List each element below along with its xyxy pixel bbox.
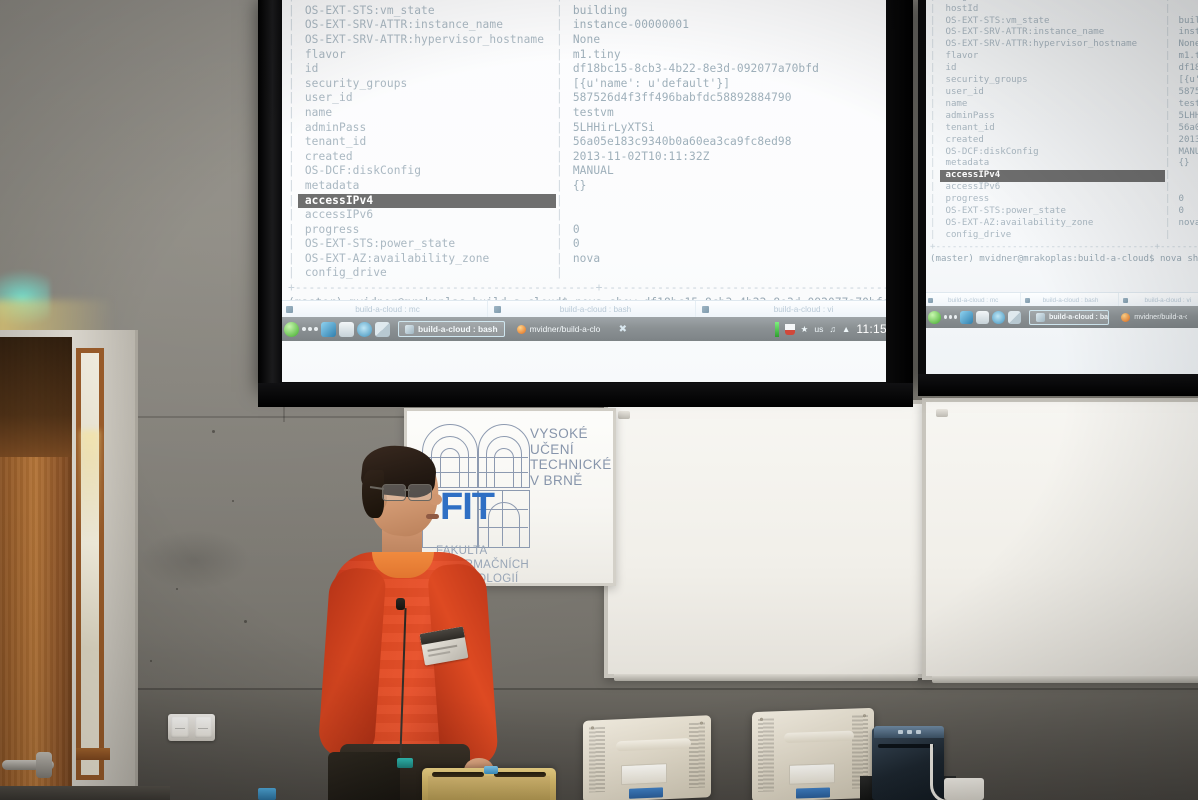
table-pipe: |	[930, 51, 940, 63]
table-pipe: |	[288, 48, 298, 63]
terminal-value: 56a05e183c9340b0a60ea3ca9fc8ed98	[566, 135, 792, 150]
table-pipe: |	[930, 123, 940, 135]
terminal-row: | flavor| m1.tiny	[930, 51, 1198, 63]
light-switch-rocker-right[interactable]	[195, 717, 213, 738]
table-pipe: |	[930, 182, 940, 194]
terminal-key: name	[940, 99, 1165, 111]
table-pipe: |	[288, 208, 298, 223]
table-pipe: |	[556, 208, 566, 223]
terminal-value: testvm	[1173, 99, 1198, 111]
vut-line-2: UČENÍ	[530, 442, 574, 457]
terminal-key: tenant_id	[298, 135, 556, 150]
terminal-value: 5LHHirLyXTSi	[1173, 111, 1198, 123]
terminal-row: | OS-EXT-STS:vm_state| building	[930, 16, 1198, 28]
terminal-row: | tenant_id| 56a05e183c9340b0a60ea3ca9fc…	[288, 135, 904, 150]
terminal-icon[interactable]	[405, 325, 414, 334]
terminal-prompt[interactable]: (master) mvidner@mrakoplas:build-a-cloud…	[930, 254, 1198, 266]
whiteboard-pen-tray	[932, 676, 1198, 683]
terminal-row: | name| testvm	[288, 106, 904, 121]
table-pipe: |	[556, 179, 566, 194]
lectern-face	[428, 776, 550, 800]
table-pipe: |	[288, 150, 298, 165]
terminal-key: OS-EXT-STS:power_state	[298, 237, 556, 252]
wall-speck	[232, 500, 234, 502]
table-pipe: |	[556, 48, 566, 63]
table-pipe: |	[930, 75, 940, 87]
table-pipe: |	[930, 230, 940, 242]
table-pipe: |	[556, 62, 566, 77]
firefox-icon[interactable]	[1121, 313, 1130, 322]
terminal-key: OS-DCF:diskConfig	[298, 164, 556, 179]
table-pipe: |	[288, 135, 298, 150]
settings-gear-icon[interactable]	[357, 322, 372, 337]
terminal-key: security_groups	[940, 75, 1165, 87]
table-pipe: |	[556, 223, 566, 238]
table-pipe: |	[930, 16, 940, 28]
terminal-value: nova	[1173, 218, 1198, 230]
whiteboard-left	[604, 400, 928, 678]
table-pipe: |	[1165, 111, 1173, 123]
terminal-row: | progress| 0	[288, 223, 904, 238]
terminal-value: building	[1173, 16, 1198, 28]
table-pipe: |	[1165, 206, 1173, 218]
terminal-rule: +---------------------------------------…	[930, 242, 1198, 254]
window-buttons-left[interactable]: build-a-cloud : bashmvidner/build-a-clo✖	[390, 321, 775, 337]
terminal-row: | config_drive|	[930, 230, 1198, 242]
vut-line-1: VYSOKÉ	[530, 426, 588, 441]
door-rail	[76, 748, 110, 760]
terminal-row: | OS-DCF:diskConfig| MANUAL	[288, 164, 904, 179]
terminal-value	[1173, 182, 1178, 194]
screen2-bezel-left	[918, 0, 926, 380]
keyboard-layout-indicator[interactable]: us	[814, 324, 823, 334]
table-pipe: |	[288, 237, 298, 252]
panel-launchers[interactable]	[280, 322, 390, 337]
workspace-switcher-icon[interactable]	[375, 322, 390, 337]
table-pipe: |	[1165, 123, 1173, 135]
terminal-key: accessIPv6	[940, 182, 1165, 194]
start-menu-icon[interactable]	[284, 322, 299, 337]
terminal-row: | OS-EXT-STS:vm_state| building	[288, 4, 904, 19]
terminal-value: MANUAL	[1173, 147, 1198, 159]
table-pipe: |	[1165, 158, 1173, 170]
terminal-row: | security_groups| [{u'name': u'default'…	[930, 75, 1198, 87]
whiteboard-magnet	[936, 409, 948, 417]
whiteboard-pen-tray	[614, 674, 917, 681]
laptop-drive-slot	[878, 744, 934, 748]
whiteboard-right	[922, 398, 1198, 680]
table-pipe: |	[288, 121, 298, 136]
table-pipe: |	[288, 266, 298, 281]
table-pipe: |	[1165, 147, 1173, 159]
terminal-tab-1[interactable]: build-a-cloud : bash	[488, 301, 696, 318]
terminal-row: | metadata| {}	[930, 158, 1198, 170]
network-icon[interactable]	[960, 311, 973, 324]
terminal-key: flavor	[298, 48, 556, 63]
terminal-value	[1173, 230, 1178, 242]
table-pipe: |	[556, 77, 566, 92]
table-pipe: |	[556, 91, 566, 106]
desktop-panel-left[interactable]: build-a-cloud : bashmvidner/build-a-clo✖…	[280, 317, 904, 341]
monitor-spec-label	[621, 763, 667, 785]
terminal-key: tenant_id	[940, 123, 1165, 135]
table-pipe: |	[556, 252, 566, 267]
terminal-tab-label: build-a-cloud : vi	[714, 305, 903, 314]
terminal-key: id	[940, 63, 1165, 75]
wall-speck	[150, 660, 152, 662]
terminal-row: | adminPass| 5LHHirLyXTSi	[288, 121, 904, 136]
badge-text-line	[428, 651, 450, 656]
terminal-key: progress	[298, 223, 556, 238]
terminal-row: | accessIPv4|	[288, 194, 904, 209]
terminal-icon[interactable]	[1036, 313, 1045, 322]
terminal-value: m1.tiny	[566, 48, 621, 63]
wall-smudge	[140, 530, 250, 590]
blue-object	[258, 788, 276, 800]
terminal-row: | flavor| m1.tiny	[288, 48, 904, 63]
terminal-key: progress	[940, 194, 1165, 206]
terminal-value: 0	[1173, 194, 1184, 206]
table-pipe: |	[556, 18, 566, 33]
terminal-key: OS-EXT-SRV-ATTR:instance_name	[940, 27, 1165, 39]
terminal-value: MANUAL	[566, 164, 614, 179]
terminal-row: | user_id| 587526d4f3ff496babfdc58892884…	[930, 87, 1198, 99]
table-pipe: |	[556, 121, 566, 136]
terminal-key: config_drive	[298, 266, 556, 281]
laptop-indicator-lights	[898, 730, 921, 734]
terminal-value: [{u'name': u'default'}]	[1173, 75, 1198, 87]
table-pipe: |	[288, 4, 298, 19]
table-pipe: |	[1165, 63, 1173, 75]
table-pipe: |	[556, 135, 566, 150]
table-pipe: |	[288, 18, 298, 33]
table-pipe: |	[930, 158, 940, 170]
vut-line-4: V BRNĚ	[530, 473, 583, 488]
terminal-tab-label: build-a-cloud : mc	[936, 297, 1020, 304]
monitor-sticker	[629, 787, 663, 798]
desk-edge-left	[0, 786, 170, 800]
taskbar-window-button-0[interactable]: build-a-cloud : bash	[398, 321, 505, 337]
terminal-key: adminPass	[940, 111, 1165, 123]
terminal-value: df18bc15-8cb3-4b22-8e3d-092077a70bfd	[1173, 63, 1198, 75]
terminal-tab-label: build-a-cloud : bash	[1033, 297, 1117, 304]
terminal-value: 2013-11-02T10:11:32Z	[1173, 135, 1198, 147]
projection-screen-left: | key_name| testkey| image| cirros| host…	[258, 0, 913, 386]
door-handle-base	[36, 752, 52, 778]
table-pipe: |	[930, 111, 940, 123]
taskbar-window-label: build-a-cloud : bash	[418, 324, 498, 334]
terminal-key: accessIPv6	[298, 208, 556, 223]
terminal-value: 2013-11-02T10:11:32Z	[566, 150, 710, 165]
terminal-tab-0[interactable]: build-a-cloud : mc	[280, 301, 488, 318]
monitor-sticker	[796, 787, 830, 798]
terminal-value	[1173, 4, 1178, 16]
terminal-row: | OS-EXT-SRV-ATTR:instance_name| instanc…	[288, 18, 904, 33]
terminal-key: OS-EXT-SRV-ATTR:hypervisor_hostname	[298, 33, 556, 48]
table-pipe: |	[1165, 99, 1173, 111]
network-icon[interactable]	[321, 322, 336, 337]
presenter	[318, 452, 498, 800]
terminal-row: | OS-EXT-STS:power_state| 0	[930, 206, 1198, 218]
workspace-switcher-icon[interactable]	[1008, 311, 1021, 324]
terminal-row: | tenant_id| 56a05e183c9340b0a60ea3ca9fc…	[930, 123, 1198, 135]
terminal-row: | OS-EXT-SRV-ATTR:instance_name| instanc…	[930, 27, 1198, 39]
terminal-key: OS-EXT-STS:vm_state	[940, 16, 1165, 28]
table-pipe: |	[1165, 27, 1173, 39]
table-pipe: |	[1165, 182, 1173, 194]
document-icon[interactable]	[339, 322, 354, 337]
screen-left-surface: | key_name| testkey| image| cirros| host…	[280, 0, 904, 382]
table-pipe: |	[556, 150, 566, 165]
terminal-output-left[interactable]: | key_name| testkey| image| cirros| host…	[280, 0, 904, 310]
monitor-rear-right	[752, 708, 874, 800]
terminal-key: OS-EXT-AZ:availability_zone	[298, 252, 556, 267]
terminal-row: | progress| 0	[930, 194, 1198, 206]
terminal-key: OS-EXT-SRV-ATTR:instance_name	[298, 18, 556, 33]
table-pipe: |	[930, 4, 940, 16]
terminal-value: instance-00000001	[566, 18, 689, 33]
monitor-vent	[589, 727, 605, 793]
table-pipe: |	[288, 77, 298, 92]
table-pipe: |	[556, 237, 566, 252]
photo-scene: VYSOKÉUČENÍTECHNICKÉV BRNĚ FIT FAKULTAIN…	[0, 0, 1198, 800]
close-icon[interactable]: ✖	[618, 325, 627, 334]
door-glass-reflection	[80, 430, 100, 540]
terminal-value: 587526d4f3ff496babfdc58892884790	[566, 91, 792, 106]
dark-equipment-box	[328, 752, 400, 800]
terminal-icon	[702, 306, 709, 313]
terminal-value: df18bc15-8cb3-4b22-8e3d-092077a70bfd	[566, 62, 819, 77]
vut-rule	[502, 490, 504, 546]
light-switch[interactable]	[168, 714, 215, 741]
terminal-tab-0[interactable]: build-a-cloud : mc	[924, 293, 1021, 307]
presenter-hair-side	[362, 470, 384, 518]
terminal-key: accessIPv4	[940, 170, 1165, 182]
terminal-key: OS-DCF:diskConfig	[940, 147, 1165, 159]
terminal-key: config_drive	[940, 230, 1165, 242]
network-icon[interactable]: ★	[801, 324, 809, 335]
terminal-tab-label: build-a-cloud : vi	[1131, 297, 1198, 304]
terminal-key: created	[298, 150, 556, 165]
terminal-key: name	[298, 106, 556, 121]
table-pipe: |	[1165, 135, 1173, 147]
terminal-value: testvm	[566, 106, 614, 121]
terminal-row: | security_groups| [{u'name': u'default'…	[288, 77, 904, 92]
teal-object	[397, 758, 413, 768]
terminal-icon	[286, 306, 293, 313]
terminal-value: {}	[566, 179, 587, 194]
white-power-brick	[944, 778, 984, 800]
table-pipe: |	[556, 266, 566, 281]
monitor-handle	[616, 738, 690, 751]
terminal-value	[1173, 170, 1178, 182]
terminal-value: [{u'name': u'default'}]	[566, 77, 730, 92]
app-menu-dots-icon[interactable]	[944, 311, 957, 324]
terminal-key: accessIPv4	[298, 194, 556, 209]
terminal-key: metadata	[298, 179, 556, 194]
wall-speck	[212, 430, 215, 433]
chevron-up-icon[interactable]: ▲	[842, 324, 851, 334]
table-pipe: |	[1165, 87, 1173, 99]
table-pipe: |	[930, 39, 940, 51]
table-pipe: |	[1165, 39, 1173, 51]
terminal-output-right[interactable]: | OS-EXT-SRV-ATTR:host| scheduling| key_…	[924, 0, 1198, 266]
screen-bezel-bottom	[258, 383, 913, 407]
terminal-value: None	[1173, 39, 1198, 51]
terminal-value: 0	[566, 237, 580, 252]
terminal-value: 5LHHirLyXTSi	[566, 121, 655, 136]
terminal-key: security_groups	[298, 77, 556, 92]
taskbar-window-button-1[interactable]: mvidner/build-a-clo	[1115, 311, 1187, 324]
panel-launchers[interactable]	[924, 311, 1021, 324]
terminal-tab-1[interactable]: build-a-cloud : bash	[1021, 293, 1118, 307]
terminal-row: | name| testvm	[930, 99, 1198, 111]
table-pipe: |	[1165, 194, 1173, 206]
terminal-row: | id| df18bc15-8cb3-4b22-8e3d-092077a70b…	[930, 63, 1198, 75]
terminal-value: 0	[1173, 206, 1184, 218]
table-pipe: |	[930, 194, 940, 206]
table-pipe: |	[1165, 75, 1173, 87]
presenter-mouth	[426, 514, 439, 519]
clock[interactable]: 11:15	[856, 322, 887, 336]
terminal-icon	[928, 298, 933, 303]
taskbar-window-button-1[interactable]: mvidner/build-a-clo	[511, 322, 607, 336]
lectern-slot	[494, 772, 546, 777]
monitor-vent	[689, 722, 705, 788]
window-buttons-right[interactable]: build-a-cloud : bashmvidner/build-a-clo✖	[1021, 310, 1198, 325]
lectern-slot	[432, 772, 484, 777]
table-pipe: |	[930, 63, 940, 75]
app-menu-dots-icon[interactable]	[302, 322, 318, 337]
table-pipe: |	[930, 27, 940, 39]
terminal-value	[566, 194, 573, 209]
terminal-row: | created| 2013-11-02T10:11:32Z	[288, 150, 904, 165]
door-glass-panel	[76, 348, 104, 780]
light-switch-rocker-left[interactable]	[171, 717, 189, 738]
table-pipe: |	[288, 252, 298, 267]
terminal-key: user_id	[298, 91, 556, 106]
terminal-row: | config_drive|	[288, 266, 904, 281]
taskbar-window-label: mvidner/build-a-clo	[1134, 313, 1187, 321]
terminal-value: building	[566, 4, 628, 19]
terminal-key: id	[298, 62, 556, 77]
table-pipe: |	[930, 99, 940, 111]
terminal-value: 0	[566, 223, 580, 238]
updates-icon[interactable]	[775, 322, 779, 337]
table-pipe: |	[930, 218, 940, 230]
terminal-row: | adminPass| 5LHHirLyXTSi	[930, 111, 1198, 123]
terminal-value	[566, 208, 573, 223]
terminal-value: nova	[566, 252, 600, 267]
table-pipe: |	[1165, 218, 1173, 230]
document-icon[interactable]	[976, 311, 989, 324]
table-pipe: |	[288, 106, 298, 121]
terminal-row: | accessIPv6|	[930, 182, 1198, 194]
terminal-row: | created| 2013-11-02T10:11:32Z	[930, 135, 1198, 147]
table-pipe: |	[288, 223, 298, 238]
table-pipe: |	[288, 164, 298, 179]
terminal-icon	[494, 306, 501, 313]
terminal-key: OS-EXT-SRV-ATTR:hypervisor_hostname	[940, 39, 1165, 51]
updates-cup-icon[interactable]	[785, 324, 795, 335]
terminal-tabbar-right[interactable]: build-a-cloud : mcbuild-a-cloud : bashbu…	[924, 292, 1198, 307]
taskbar-window-button-0[interactable]: build-a-cloud : bash	[1029, 310, 1109, 325]
screen-bezel-left	[258, 0, 282, 386]
door-shadow	[0, 337, 72, 457]
terminal-row: | metadata| {}	[288, 179, 904, 194]
projection-screen-right: | OS-EXT-SRV-ATTR:host| scheduling| key_…	[920, 0, 1198, 380]
whiteboard-magnet	[618, 411, 630, 419]
firefox-icon[interactable]	[517, 325, 526, 334]
table-pipe: |	[556, 33, 566, 48]
terminal-tab-2[interactable]: build-a-cloud : vi	[696, 301, 904, 318]
terminal-key: OS-EXT-STS:power_state	[940, 206, 1165, 218]
terminal-key: hostId	[940, 4, 1165, 16]
taskbar-window-button-2[interactable]: ✖	[612, 323, 637, 336]
terminal-value: {}	[1173, 158, 1189, 170]
terminal-row: | accessIPv6|	[288, 208, 904, 223]
table-pipe: |	[1165, 51, 1173, 63]
terminal-key: created	[940, 135, 1165, 147]
terminal-tab-2[interactable]: build-a-cloud : vi	[1119, 293, 1198, 307]
terminal-row: | OS-DCF:diskConfig| MANUAL	[930, 147, 1198, 159]
vut-line-3: TECHNICKÉ	[530, 457, 612, 472]
terminal-key: metadata	[940, 158, 1165, 170]
terminal-row: | hostId|	[930, 4, 1198, 16]
table-pipe: |	[556, 194, 566, 209]
terminal-value: m1.tiny	[1173, 51, 1198, 63]
terminal-key: user_id	[940, 87, 1165, 99]
taskbar-window-label: mvidner/build-a-clo	[530, 324, 601, 334]
terminal-row: | id| df18bc15-8cb3-4b22-8e3d-092077a70b…	[288, 62, 904, 77]
table-pipe: |	[930, 135, 940, 147]
wall-speck	[244, 620, 247, 623]
taskbar-window-button-2[interactable]: ✖	[1193, 311, 1198, 324]
terminal-row: | OS-EXT-STS:power_state| 0	[288, 237, 904, 252]
terminal-row: | OS-EXT-SRV-ATTR:hypervisor_hostname| N…	[288, 33, 904, 48]
table-pipe: |	[930, 170, 940, 182]
terminal-icon	[1123, 298, 1128, 303]
taskbar-window-label: build-a-cloud : bash	[1049, 313, 1109, 321]
monitor-vent	[758, 718, 774, 792]
screen-bezel-right	[886, 0, 913, 386]
monitor-handle	[784, 731, 855, 743]
table-pipe: |	[288, 91, 298, 106]
terminal-value: 56a05e183c9340b0a60ea3ca9fc8ed98	[1173, 123, 1198, 135]
terminal-tab-label: build-a-cloud : mc	[298, 305, 487, 314]
table-pipe: |	[288, 33, 298, 48]
system-tray-left[interactable]: ★ us ♫ ▲ 11:15	[775, 322, 904, 337]
terminal-key: adminPass	[298, 121, 556, 136]
desktop-panel-right[interactable]: build-a-cloud : bashmvidner/build-a-clo✖	[924, 306, 1198, 328]
terminal-tabbar-left[interactable]: build-a-cloud : mcbuild-a-cloud : bashbu…	[280, 300, 904, 318]
table-pipe: |	[1165, 170, 1173, 182]
terminal-row: | OS-EXT-SRV-ATTR:hypervisor_hostname| N…	[930, 39, 1198, 51]
glasses-lens-right	[408, 484, 432, 501]
terminal-value: 587526d4f3ff496babfdc58892884790	[1173, 87, 1198, 99]
monitor-rear-left	[583, 715, 711, 800]
start-menu-icon[interactable]	[928, 311, 941, 324]
terminal-icon	[1025, 298, 1030, 303]
terminal-rule: +---------------------------------------…	[288, 281, 904, 296]
table-pipe: |	[930, 147, 940, 159]
table-pipe: |	[1165, 4, 1173, 16]
terminal-row: | OS-EXT-AZ:availability_zone| nova	[288, 252, 904, 267]
table-pipe: |	[556, 164, 566, 179]
terminal-row: | user_id| 587526d4f3ff496babfdc58892884…	[288, 91, 904, 106]
volume-icon[interactable]: ♫	[829, 324, 835, 334]
settings-gear-icon[interactable]	[992, 311, 1005, 324]
